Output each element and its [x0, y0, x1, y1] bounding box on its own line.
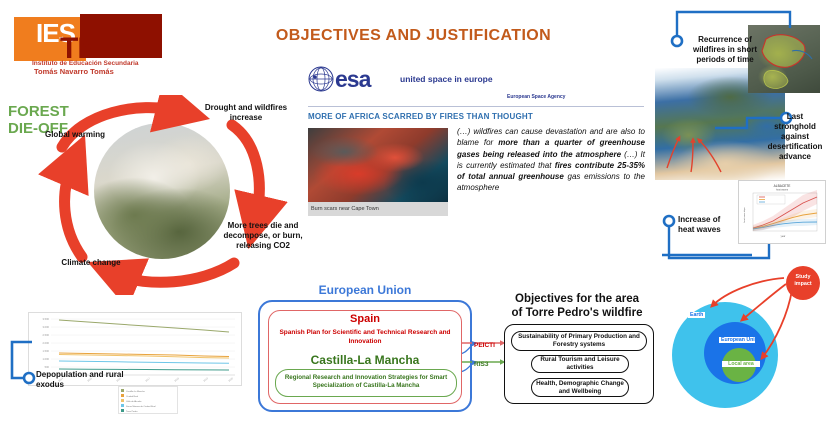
- svg-text:Torre Pedro: Torre Pedro: [126, 410, 138, 413]
- esa-logo-icon: [308, 66, 334, 92]
- objective-item-rural-tourism: Rural Tourism and Leisure activities: [531, 355, 629, 373]
- objective-item-sustainability: Sustainability of Primary Production and…: [511, 331, 647, 351]
- peicti-arrow-label: PEICTI: [474, 342, 495, 349]
- objectives-box: Sustainability of Primary Production and…: [504, 324, 654, 404]
- logo-subtitle-line2: Tomás Navarro Tomás: [34, 67, 114, 76]
- european-union-label: European Union: [260, 283, 470, 297]
- spain-box: Spain Spanish Plan for Scientific and Te…: [268, 310, 462, 404]
- cycle-node-drought: Drought and wildfires increase: [198, 103, 294, 123]
- spain-label: Spain: [269, 313, 461, 325]
- annotation-recurrence-label: Recurrence of wildfires in short periods…: [687, 35, 763, 65]
- forest-die-off-cycle: Drought and wildfires increase More tree…: [20, 95, 310, 295]
- svg-text:Valle de Alcudia: Valle de Alcudia: [126, 400, 142, 403]
- clm-plan-text: Regional Research and Innovation Strateg…: [280, 374, 452, 390]
- annotation-stronghold-label: Last stronghold against desertification …: [766, 112, 824, 162]
- svg-text:2020: 2020: [228, 377, 235, 383]
- impact-diagram-top-rule: [660, 252, 760, 264]
- cycle-node-trees: More trees die and decompose, or burn, r…: [216, 221, 310, 251]
- objective-item-health: Health, Demographic Change and Wellbeing: [531, 378, 629, 397]
- svg-text:3.000: 3.000: [43, 325, 50, 329]
- depopulation-label: Depopulation and rural exodus: [36, 370, 126, 390]
- cycle-node-global-warming: Global warming: [32, 130, 118, 140]
- esa-article-body: (…) wildfires can cause devastation and …: [457, 126, 645, 194]
- legend-svg: Castilla-La Mancha Ciudad Real Valle de …: [119, 387, 177, 413]
- esa-article-card: esa united space in europe European Spac…: [305, 58, 660, 228]
- esa-image-caption: Burn scars near Cape Town: [308, 202, 448, 216]
- objectives-title-line2: of Torre Pedro's wildfire: [494, 306, 660, 320]
- study-impact-arrows: [660, 258, 827, 388]
- svg-text:Ciudad Real: Ciudad Real: [126, 396, 139, 398]
- objectives-title-line1: Objectives for the area: [494, 292, 660, 306]
- esa-thumbnail-wrapper: Burn scars near Cape Town: [308, 128, 448, 216]
- esa-agency-name: European Space Agency: [507, 94, 565, 100]
- european-union-box: European Union Spain Spanish Plan for Sc…: [258, 300, 472, 412]
- esa-wordmark: esa: [335, 66, 370, 93]
- castilla-la-mancha-label: Castilla-La Mancha: [269, 353, 461, 367]
- svg-text:2017: 2017: [145, 377, 152, 383]
- esa-tagline: united space in europe: [400, 74, 493, 84]
- objectives-title: Objectives for the area of Torre Pedro's…: [494, 292, 660, 320]
- svg-text:Castilla-La Mancha: Castilla-La Mancha: [126, 390, 146, 393]
- logo-subtitle-line1: Instituto de Educación Secundaria: [32, 60, 139, 67]
- svg-text:2018: 2018: [174, 377, 181, 383]
- spain-plan-text: Spanish Plan for Scientific and Technica…: [275, 329, 455, 346]
- cycle-node-climate-change: Climate change: [48, 258, 134, 268]
- population-chart-legend: Castilla-La Mancha Ciudad Real Valle de …: [118, 386, 178, 414]
- burn-scars-satellite-image: [308, 128, 448, 202]
- svg-text:3.500: 3.500: [43, 317, 50, 321]
- esa-headline: MORE OF AFRICA SCARRED BY FIRES THAN THO…: [308, 112, 533, 121]
- esa-divider: [308, 106, 644, 107]
- svg-text:Sierra Morena de Ciudad Real: Sierra Morena de Ciudad Real: [126, 405, 156, 408]
- annotation-heatwaves-label: Increase of heat waves: [678, 215, 738, 235]
- ris3-arrow-label: RIS3: [474, 361, 488, 368]
- svg-text:2019: 2019: [203, 377, 210, 383]
- castilla-la-mancha-box: Regional Research and Innovation Strateg…: [275, 369, 457, 397]
